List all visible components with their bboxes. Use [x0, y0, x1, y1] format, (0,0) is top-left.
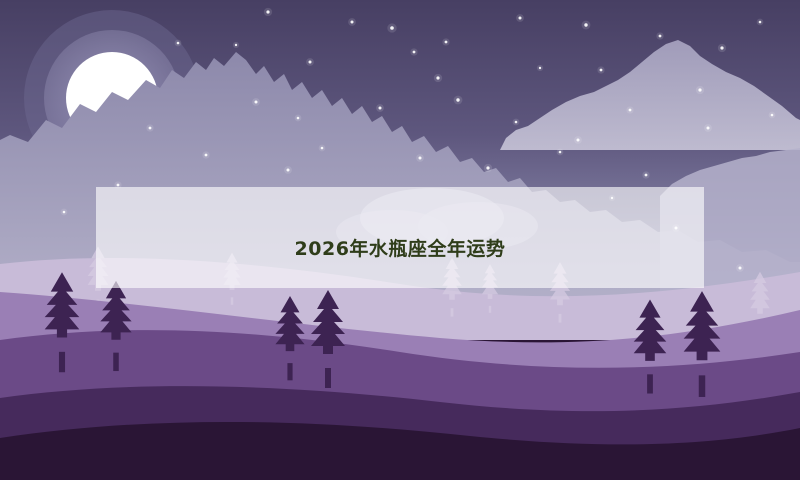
star	[309, 61, 312, 64]
star	[577, 139, 580, 142]
star	[321, 147, 324, 150]
star	[629, 109, 632, 112]
star	[519, 17, 522, 20]
star	[771, 114, 774, 117]
star	[149, 127, 152, 130]
star	[297, 117, 300, 120]
star	[379, 107, 382, 110]
star	[419, 157, 422, 160]
star	[698, 88, 701, 91]
star	[413, 51, 416, 54]
star	[63, 211, 66, 214]
night-landscape-illustration: 2026年水瓶座全年运势	[0, 0, 800, 480]
star	[456, 98, 459, 101]
star	[287, 169, 290, 172]
star	[659, 35, 662, 38]
star	[351, 21, 354, 24]
star	[707, 127, 710, 130]
star	[205, 154, 208, 157]
star	[117, 184, 120, 187]
star	[177, 42, 180, 45]
star	[445, 41, 448, 44]
star	[559, 151, 562, 154]
page-title: 2026年水瓶座全年运势	[295, 240, 506, 259]
star	[390, 26, 394, 30]
star	[720, 46, 723, 49]
star	[584, 23, 587, 26]
star	[255, 101, 258, 104]
star	[235, 44, 237, 46]
star	[759, 21, 762, 24]
star	[436, 76, 439, 79]
star	[739, 267, 742, 270]
star	[486, 166, 489, 169]
star	[645, 174, 648, 177]
star	[539, 67, 541, 69]
star	[515, 121, 518, 124]
title-banner: 2026年水瓶座全年运势	[96, 187, 704, 288]
star	[266, 10, 269, 13]
star	[600, 69, 603, 72]
